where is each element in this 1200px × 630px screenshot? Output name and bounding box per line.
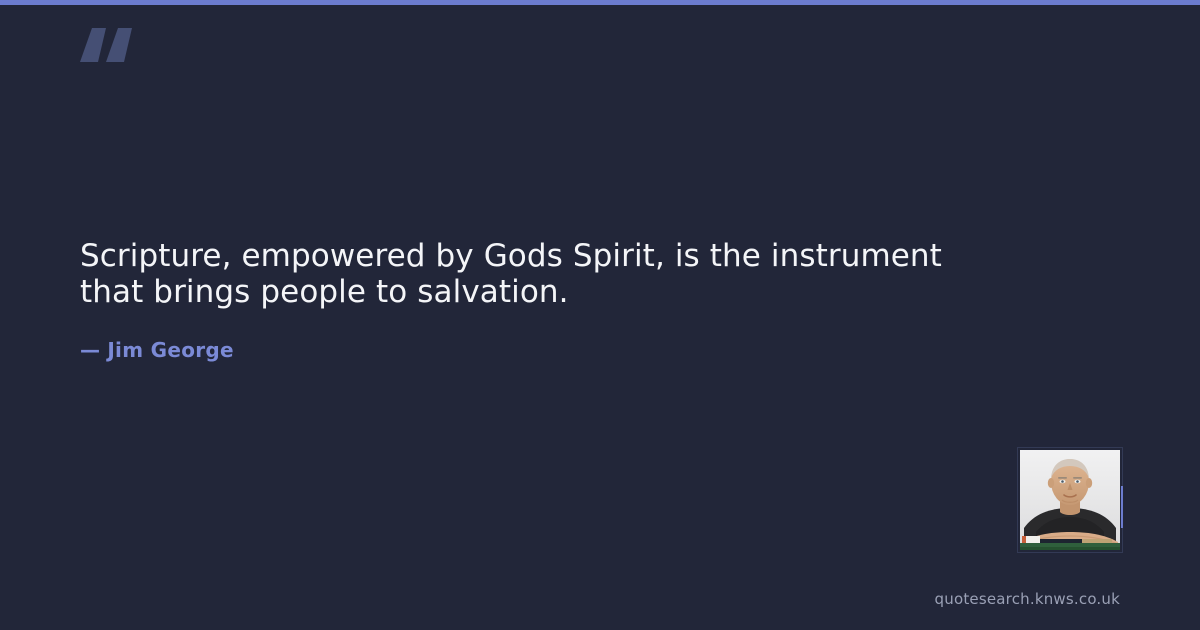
quote-line: Scripture, empowered by Gods Spirit, is … — [80, 238, 1040, 274]
top-accent-bar — [0, 0, 1200, 5]
quote-author: —Jim George — [80, 338, 234, 362]
quote-card: Scripture, empowered by Gods Spirit, is … — [0, 0, 1200, 630]
author-name: Jim George — [107, 338, 234, 362]
quote-text: Scripture, empowered by Gods Spirit, is … — [80, 238, 1040, 310]
author-dash: — — [80, 338, 100, 362]
quote-line: that brings people to salvation. — [80, 274, 1040, 310]
open-quote-icon — [76, 16, 146, 86]
author-portrait — [1020, 450, 1120, 550]
portrait-accent-line — [1121, 486, 1123, 528]
source-url: quotesearch.knws.co.uk — [935, 590, 1120, 608]
portrait-frame — [1017, 447, 1123, 553]
